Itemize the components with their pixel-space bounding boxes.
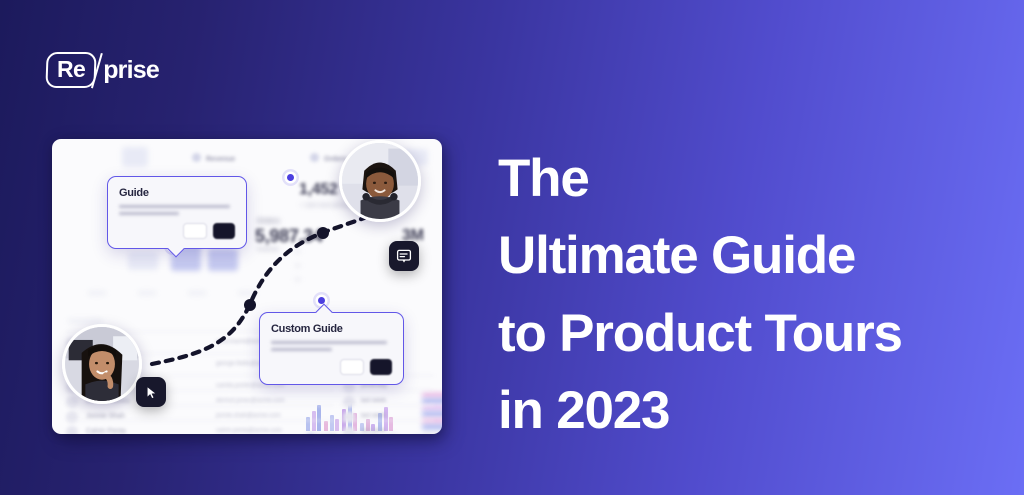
guide-body [271,341,392,351]
activity-meta: last week [361,428,386,434]
contact-email: calvin.penta@acme.com [216,428,282,434]
chat-badge[interactable] [389,241,419,271]
table-row[interactable]: Calvin Penta calvin.penta@acme.com [66,420,334,434]
axis-placeholder [138,291,156,295]
contact-email: dermot.jones@acme.com [216,398,284,404]
guide-actions [119,223,235,239]
contact-email: jonnie.shah@acme.com [216,413,280,419]
contact-name: Jonnie Shah [86,413,125,420]
content-placeholder [208,249,238,271]
avatar-photo-woman [65,327,139,401]
chat-bubble-icon [396,248,412,264]
avatar [339,140,421,222]
headline-line-3: to Product Tours [498,295,998,372]
logo-mark-box: Re [45,52,96,88]
guide-title: Custom Guide [271,323,392,335]
activity-meta: last week [361,398,386,404]
avatar-photo-man [342,143,418,219]
reprise-logo[interactable]: Re prise [46,52,159,88]
axis-placeholder [88,291,106,295]
logo-placeholder [122,147,148,167]
tour-step-dot-2[interactable] [282,169,299,186]
kpi-label-secondary: Orders [257,218,280,225]
guide-tooltip[interactable]: Custom Guide [259,312,404,385]
guide-primary-button[interactable] [213,223,235,239]
cursor-pointer-icon [144,385,159,400]
guide-secondary-button[interactable] [340,359,364,375]
revenue-icon [192,153,201,162]
headline-line-4: in 2023 [498,372,998,449]
guide-secondary-button[interactable] [183,223,207,239]
y-tick: 20 [295,277,300,282]
orders-icon [310,153,319,162]
axis-placeholder [188,291,206,295]
guide-title: Guide [119,187,235,199]
headline-line-1: The [498,140,998,217]
headline-line-2: Ultimate Guide [498,217,998,294]
content-placeholder [128,252,158,270]
product-screenshot-mockup: Revenue Orders 1,452^ + 18% from previou… [52,139,442,434]
table-header [68,319,102,323]
guide-actions [271,359,392,375]
guide-body [119,205,235,215]
avatar [62,324,142,404]
contact-name: Calvin Penta [86,428,126,434]
logo-wordmark: prise [103,56,159,85]
kpi-sub-revenue: revenue [257,247,279,253]
kpi-label-orders: Orders [310,153,347,163]
avatar [66,426,78,434]
kpi-value-revenue: 5,987.34 [255,226,323,247]
guide-tooltip[interactable]: Guide [107,176,247,249]
activity-row[interactable]: last week [339,420,434,434]
kpi-label-revenue: Revenue [192,153,235,163]
axis-placeholder [238,291,256,295]
guide-primary-button[interactable] [370,359,392,375]
page-title: The Ultimate Guide to Product Tours in 2… [498,140,998,450]
avatar [343,426,355,434]
logo-mark-text: Re [57,56,85,83]
activity-meta: last week [361,413,386,419]
cursor-badge[interactable] [136,377,166,407]
y-tick: 40 [295,263,300,268]
y-tick: 60 [295,249,300,254]
